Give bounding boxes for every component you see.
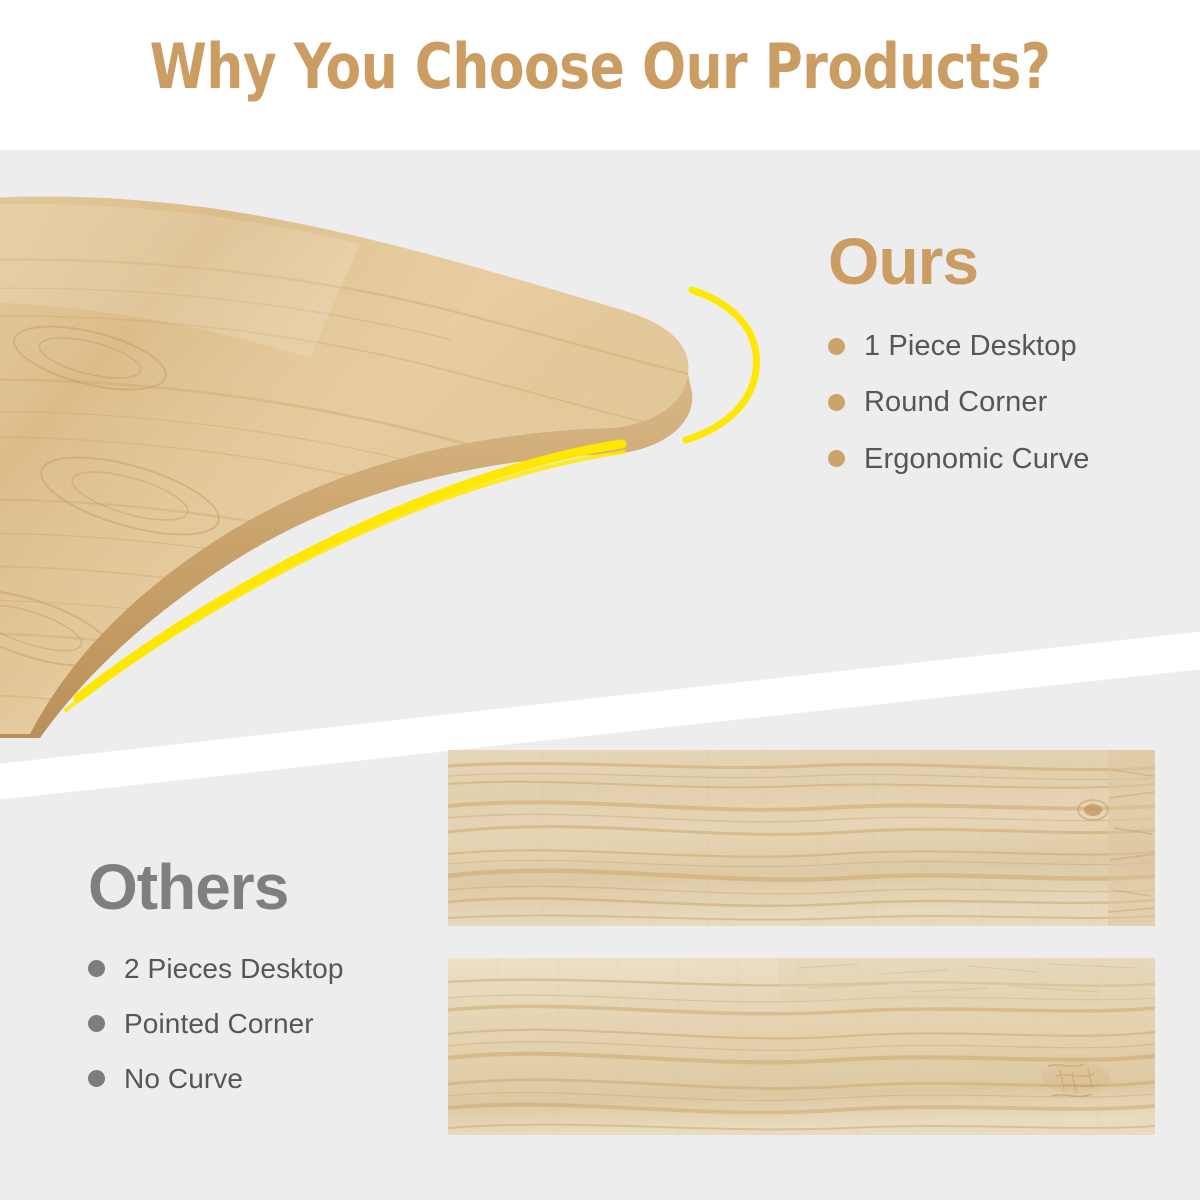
bullet-dot-icon	[828, 338, 845, 355]
round-corner-arc	[686, 290, 756, 440]
list-item: 1 Piece Desktop	[828, 328, 1188, 364]
infographic-canvas: Ours 1 Piece Desktop Round Corner Ergono…	[0, 0, 1200, 1200]
others-plank-image-top	[448, 750, 1155, 926]
list-item: Pointed Corner	[88, 1006, 488, 1041]
list-item: 2 Pieces Desktop	[88, 951, 488, 986]
page-title: Why You Choose Our Products?	[42, 34, 1158, 99]
ours-bullet-label: Ergonomic Curve	[864, 441, 1090, 477]
bullet-dot-icon	[828, 394, 845, 411]
ours-desktop-image	[0, 178, 780, 738]
ours-heading: Ours	[828, 228, 1188, 294]
ours-panel: Ours 1 Piece Desktop Round Corner Ergono…	[828, 228, 1188, 497]
others-panel: Others 2 Pieces Desktop Pointed Corner N…	[88, 855, 488, 1116]
bullet-dot-icon	[828, 450, 845, 467]
bullet-dot-icon	[88, 960, 105, 977]
others-bullet-label: 2 Pieces Desktop	[124, 951, 344, 986]
others-plank-image-bottom	[448, 958, 1155, 1135]
ours-bullet-label: 1 Piece Desktop	[864, 328, 1077, 364]
desktop-top-face	[0, 178, 780, 738]
ours-feature-list: 1 Piece Desktop Round Corner Ergonomic C…	[828, 328, 1188, 477]
header-band: Why You Choose Our Products?	[0, 0, 1200, 150]
others-heading: Others	[88, 855, 488, 919]
ours-bullet-label: Round Corner	[864, 384, 1047, 420]
bullet-dot-icon	[88, 1015, 105, 1032]
list-item: No Curve	[88, 1061, 488, 1096]
list-item: Ergonomic Curve	[828, 441, 1188, 477]
others-feature-list: 2 Pieces Desktop Pointed Corner No Curve	[88, 951, 488, 1096]
others-bullet-label: Pointed Corner	[124, 1006, 314, 1041]
bullet-dot-icon	[88, 1070, 105, 1087]
others-bullet-label: No Curve	[124, 1061, 243, 1096]
list-item: Round Corner	[828, 384, 1188, 420]
